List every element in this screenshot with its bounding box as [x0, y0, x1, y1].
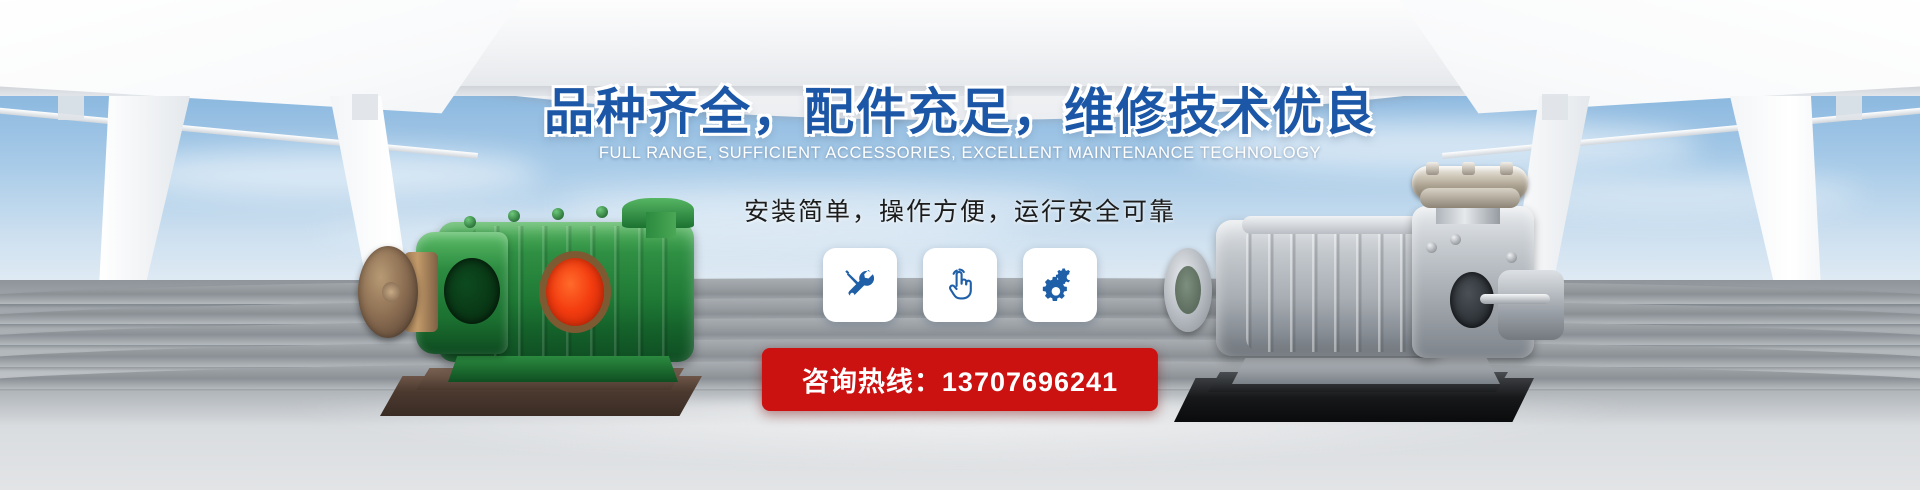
feature-card-parts[interactable] — [1023, 248, 1097, 322]
hand-click-pointer-icon — [940, 265, 980, 305]
hotline-button[interactable]: 咨询热线：13707696241 — [762, 348, 1158, 411]
tools-wrench-screwdriver-icon — [840, 265, 880, 305]
gears-cogs-icon — [1040, 265, 1080, 305]
banner-content: 品种齐全，配件充足，维修技术优良 FULL RANGE, SUFFICIENT … — [0, 0, 1920, 490]
feature-icon-row — [0, 248, 1920, 322]
banner-headline: 品种齐全，配件充足，维修技术优良 — [0, 72, 1920, 144]
banner-subtitle-chinese: 安装简单，操作方便，运行安全可靠 — [0, 192, 1920, 228]
product-hero-banner: 品种齐全，配件充足，维修技术优良 FULL RANGE, SUFFICIENT … — [0, 0, 1920, 490]
feature-card-easy-operation[interactable] — [923, 248, 997, 322]
banner-subtitle-english: FULL RANGE, SUFFICIENT ACCESSORIES, EXCE… — [0, 144, 1920, 163]
feature-card-tools[interactable] — [823, 248, 897, 322]
